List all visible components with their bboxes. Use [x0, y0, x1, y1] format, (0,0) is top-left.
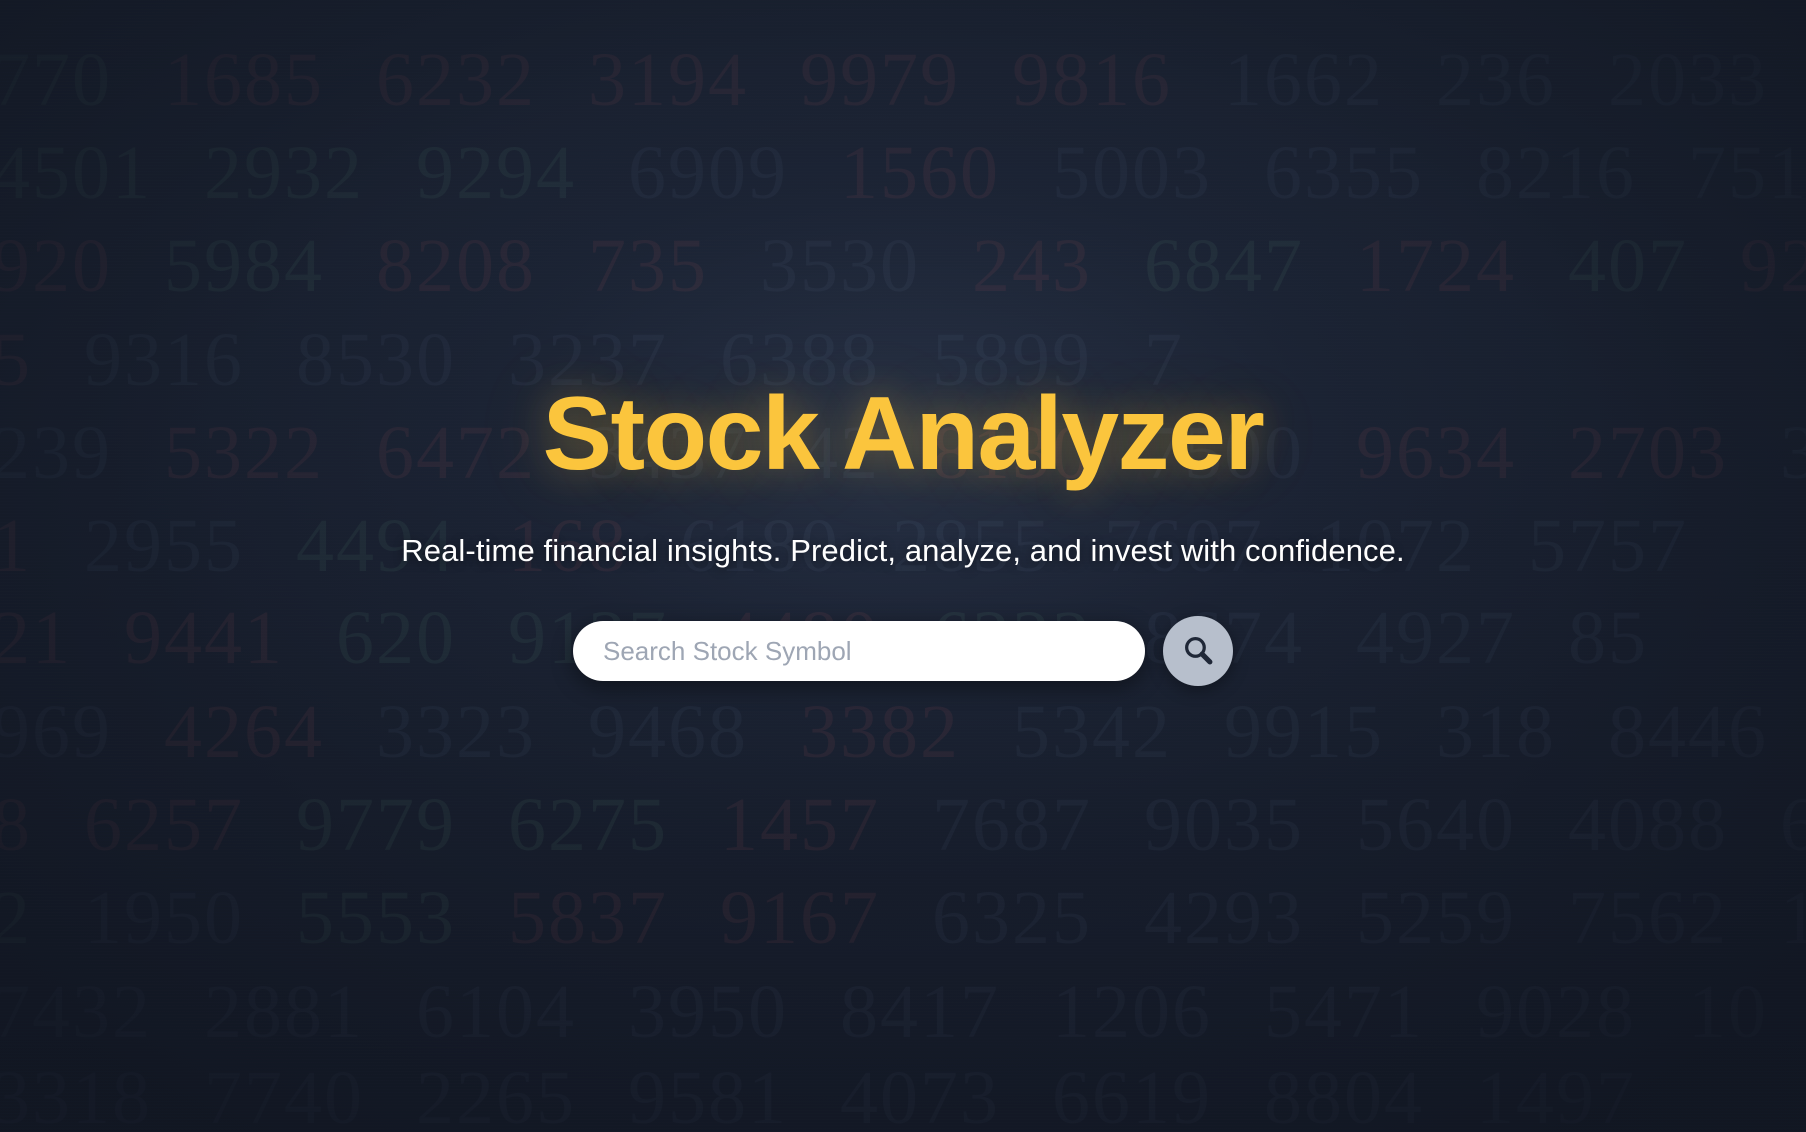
search-bar	[573, 616, 1233, 686]
search-button[interactable]	[1163, 616, 1233, 686]
search-input[interactable]	[573, 621, 1145, 681]
app-root: 7701685623231949979981616622362033445012…	[0, 0, 1806, 1132]
page-title: Stock Analyzer	[543, 380, 1264, 489]
search-icon	[1181, 633, 1215, 670]
hero-section: Stock Analyzer Real-time financial insig…	[0, 0, 1806, 1132]
page-subtitle: Real-time financial insights. Predict, a…	[401, 533, 1404, 569]
